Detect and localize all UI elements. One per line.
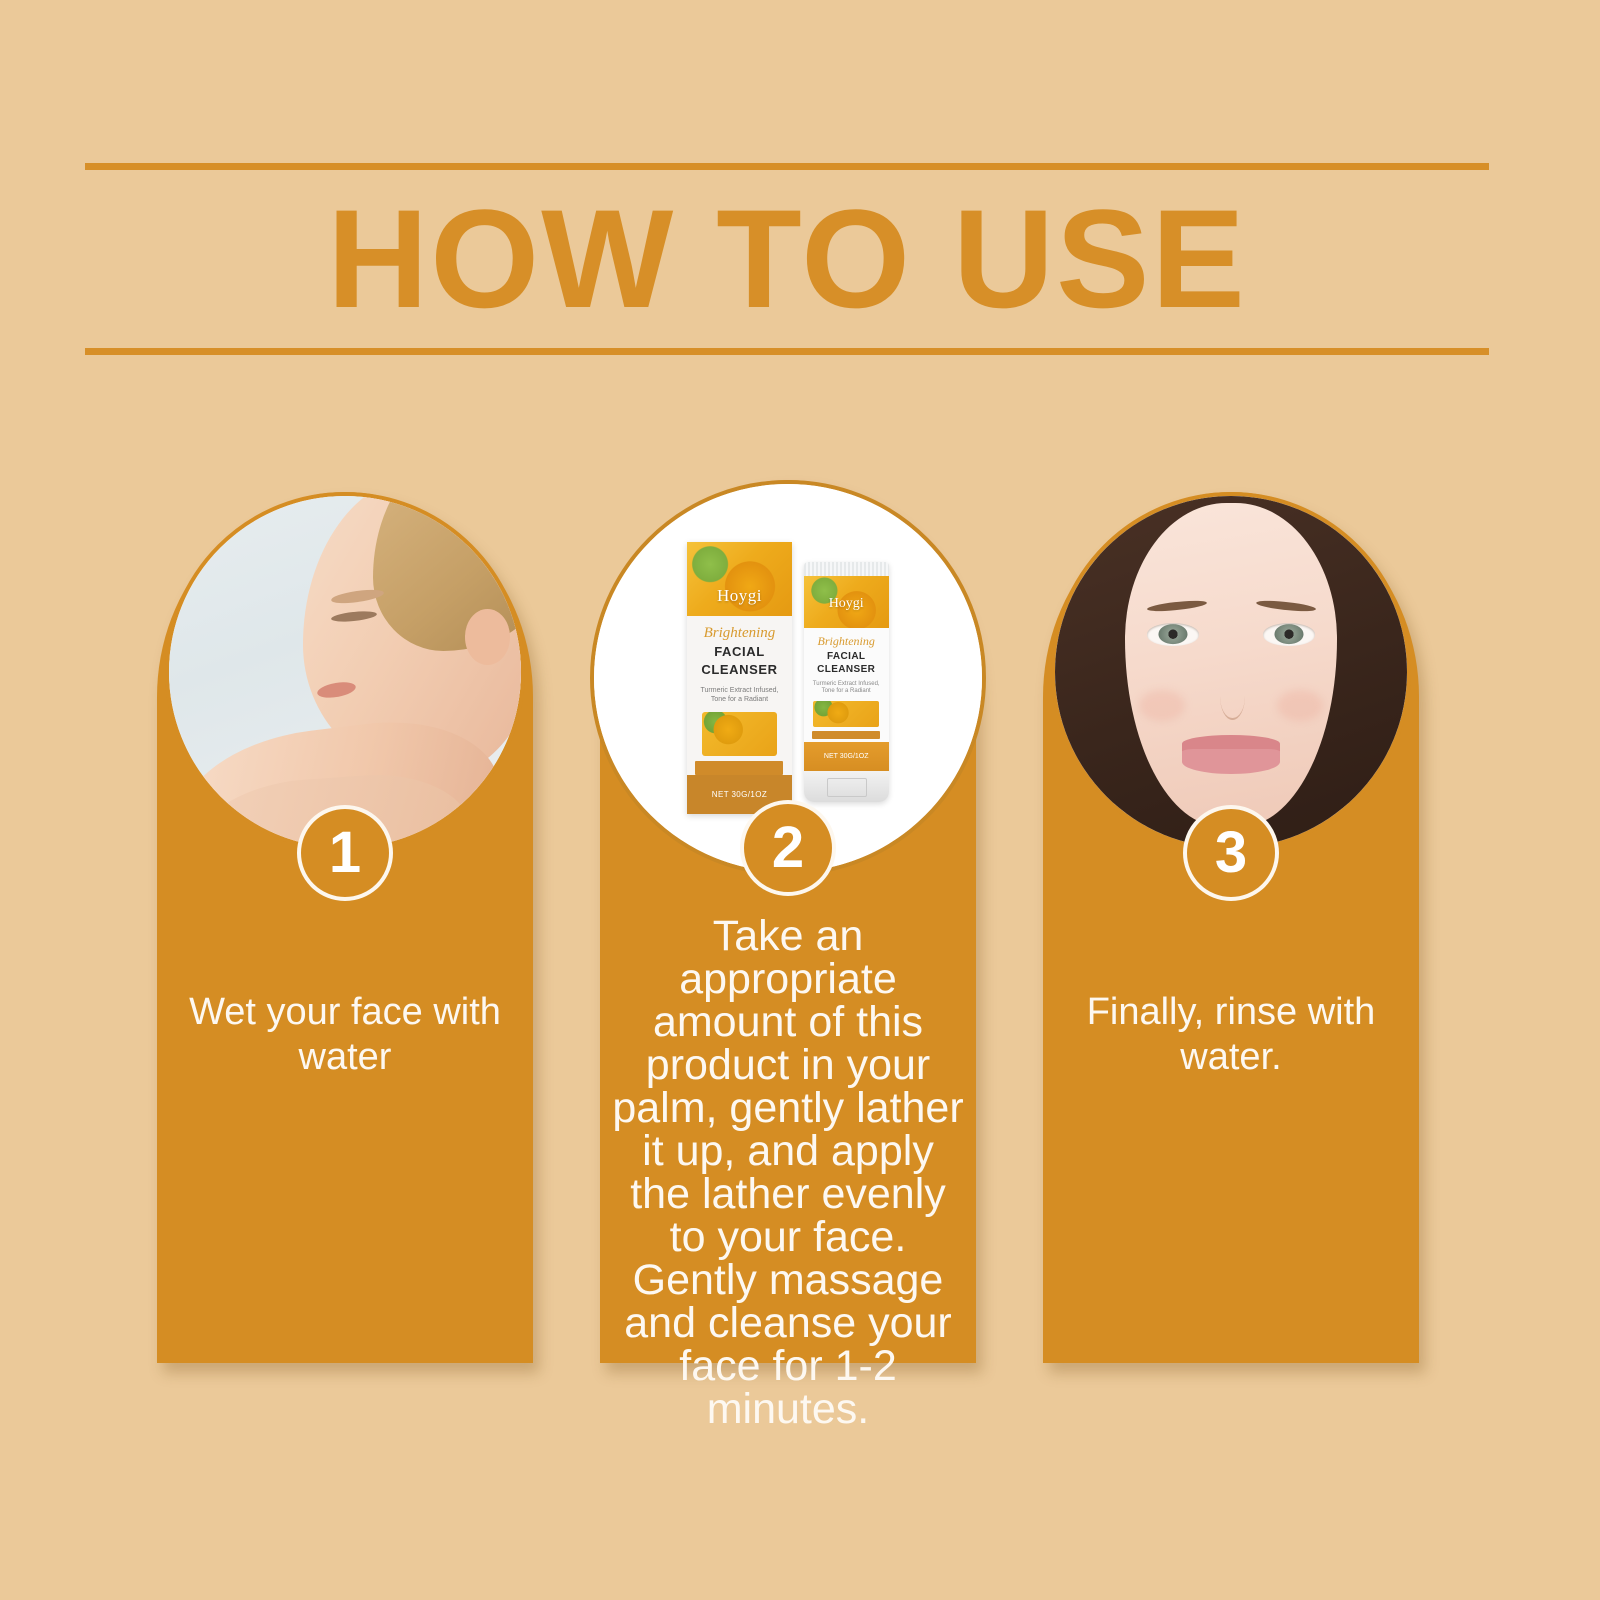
face-shape-icon [1125, 503, 1336, 827]
product-carton: Hoygi Brightening FACIAL CLEANSER Turmer… [687, 542, 792, 814]
step-3-caption: Finally, rinse with water. [1061, 990, 1401, 1080]
woman-washing-face-photo [169, 496, 521, 848]
carton-script-label: Brightening [687, 625, 792, 642]
eye-left-icon [1147, 623, 1200, 646]
lower-lip-icon [1182, 749, 1281, 774]
iris-right-icon [1275, 624, 1304, 644]
carton-tagline: Turmeric Extract Infused, Tone for a Rad… [687, 686, 792, 704]
step-2-number-badge: 2 [740, 800, 836, 896]
carton-ingredient-image [702, 712, 777, 757]
scene-3-background [1055, 496, 1407, 848]
carton-product-name-line1: FACIAL [687, 645, 792, 660]
page-title: HOW TO USE [85, 189, 1489, 329]
header-top-rule [85, 163, 1489, 170]
step-3-number-badge: 3 [1183, 805, 1279, 901]
ear-shape-icon [465, 609, 511, 665]
tube-accent-band [812, 731, 880, 739]
page-header: HOW TO USE [85, 163, 1489, 355]
cheek-blush-right-icon [1277, 690, 1323, 722]
scene-1-background [169, 496, 521, 848]
carton-product-name-line2: CLEANSER [687, 663, 792, 678]
step-1-caption: Wet your face with water [175, 990, 515, 1080]
tube-tagline: Turmeric Extract Infused, Tone for a Rad… [804, 681, 889, 697]
tube-product-name-line2: CLEANSER [804, 664, 889, 676]
step-3-photo [1051, 492, 1411, 852]
tube-ingredient-image [813, 701, 880, 728]
tube-net-weight: NET 30G/1OZ [804, 742, 889, 771]
header-bottom-rule [85, 348, 1489, 355]
cheek-blush-left-icon [1139, 690, 1185, 722]
carton-accent-band [695, 761, 783, 774]
iris-left-icon [1158, 624, 1187, 644]
tube-brand-label: Hoygi [804, 596, 889, 612]
product-tube: Hoygi Brightening FACIAL CLEANSER Turmer… [804, 562, 889, 803]
steps-container: 1 Wet your face with water Hoygi Brighte… [0, 460, 1600, 1400]
step-2-caption: Take an appropriate amount of this produ… [610, 915, 966, 1431]
tube-script-label: Brightening [804, 634, 889, 649]
tube-crimp-seal [804, 562, 889, 576]
woman-clear-skin-portrait-photo [1055, 496, 1407, 848]
tube-product-name-line1: FACIAL [804, 651, 889, 663]
nose-shape-icon [1220, 672, 1245, 720]
tube-turmeric-image: Hoygi [804, 576, 889, 628]
tube-cap-icon [804, 771, 889, 802]
step-1-number-badge: 1 [297, 805, 393, 901]
step-1-photo [165, 492, 525, 852]
eye-right-icon [1263, 623, 1316, 646]
carton-brand-label: Hoygi [687, 586, 792, 606]
